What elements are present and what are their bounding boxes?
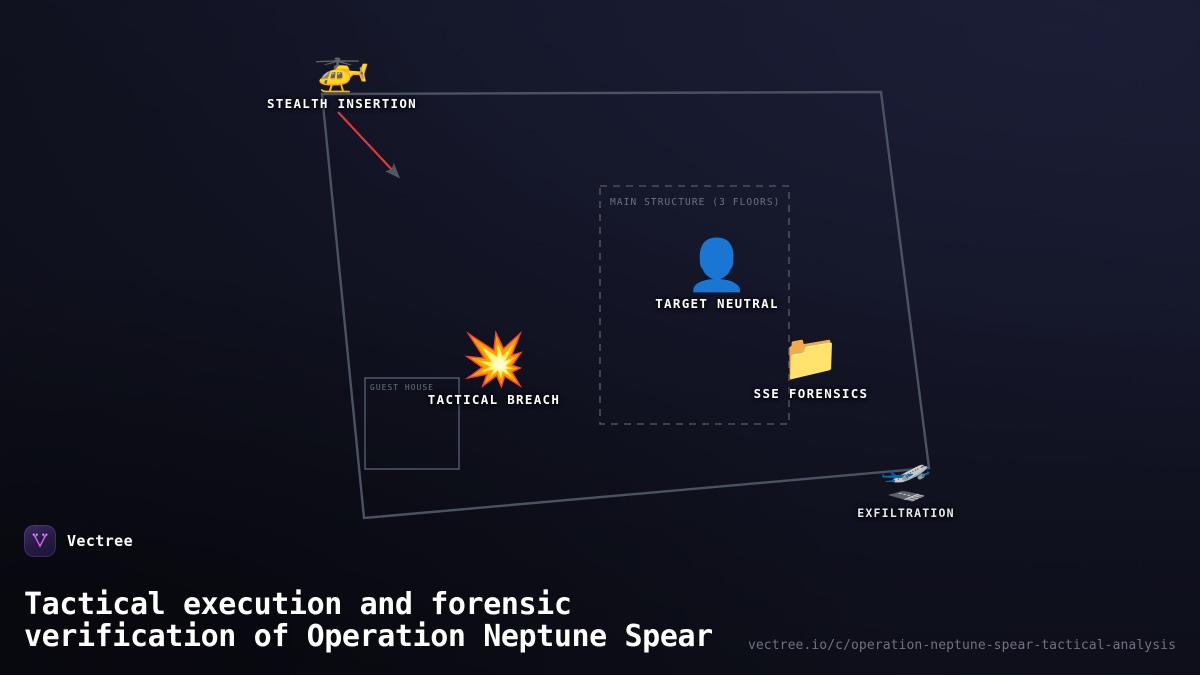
insertion-approach-arrow bbox=[338, 112, 394, 172]
airplane-departure-icon: 🛫 bbox=[880, 458, 932, 500]
map-marker-target-neutral[interactable]: 👤 TARGET NEUTRAL bbox=[655, 240, 779, 311]
map-marker-tactical-breach[interactable]: 💥 TACTICAL BREACH bbox=[428, 334, 560, 407]
brand-name: Vectree bbox=[67, 532, 133, 550]
vectree-tree-glyph bbox=[30, 531, 50, 551]
map-marker-label: TACTICAL BREACH bbox=[428, 392, 560, 407]
zone-label-guest-house: GUEST HOUSE bbox=[370, 383, 434, 392]
source-url: vectree.io/c/operation-neptune-spear-tac… bbox=[748, 638, 1176, 653]
map-marker-label: SSE FORENSICS bbox=[754, 386, 869, 401]
zone-label-main-structure: MAIN STRUCTURE (3 FLOORS) bbox=[610, 197, 781, 208]
brand[interactable]: Vectree bbox=[24, 525, 133, 557]
tactical-map: MAIN STRUCTURE (3 FLOORS) GUEST HOUSE 🚁 … bbox=[0, 0, 1200, 675]
map-marker-label: TARGET NEUTRAL bbox=[655, 296, 779, 311]
map-marker-label: STEALTH INSERTION bbox=[267, 96, 417, 111]
helicopter-icon: 🚁 bbox=[313, 44, 370, 90]
map-vector-layer bbox=[0, 0, 1200, 675]
map-marker-label: EXFILTRATION bbox=[857, 506, 954, 520]
folder-icon: 📁 bbox=[782, 334, 839, 380]
map-marker-sse-forensics[interactable]: 📁 SSE FORENSICS bbox=[754, 334, 869, 401]
compound-perimeter bbox=[322, 92, 929, 518]
map-marker-exfiltration[interactable]: 🛫 EXFILTRATION bbox=[857, 458, 954, 520]
vectree-logo-icon bbox=[24, 525, 56, 557]
person-icon: 👤 bbox=[686, 240, 748, 290]
map-marker-stealth-insertion[interactable]: 🚁 STEALTH INSERTION bbox=[267, 44, 417, 111]
explosion-icon: 💥 bbox=[462, 334, 527, 386]
page-title: Tactical execution and forensic verifica… bbox=[24, 589, 744, 653]
